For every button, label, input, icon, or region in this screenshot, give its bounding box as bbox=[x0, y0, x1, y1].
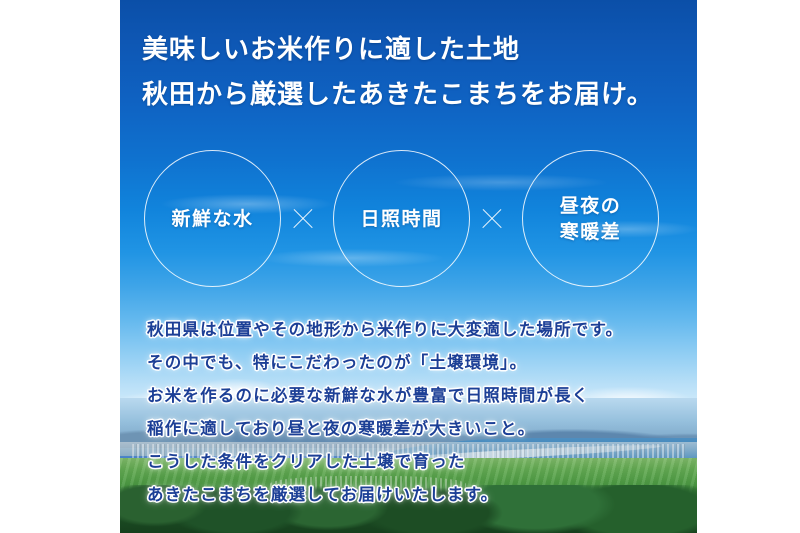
multiply-icon-2 bbox=[479, 206, 505, 232]
body-line: お米を作るのに必要な新鮮な水が豊富で日照時間が長く bbox=[147, 379, 677, 412]
headline-line-2: 秋田から厳選したあきたこまちをお届け。 bbox=[142, 73, 682, 118]
banner-headline: 美味しいお米作りに適した土地 秋田から厳選したあきたこまちをお届け。 bbox=[142, 28, 682, 118]
factor-label-day-night-temperature-range: 昼夜の 寒暖差 bbox=[560, 193, 622, 245]
factor-label-fresh-water: 新鮮な水 bbox=[171, 206, 253, 232]
body-line: 稲作に適しており昼と夜の寒暖差が大きいこと。 bbox=[147, 412, 677, 445]
body-line: こうした条件をクリアした土壌で育った bbox=[147, 445, 677, 478]
page-root: 美味しいお米作りに適した土地 秋田から厳選したあきたこまちをお届け。 新鮮な水 … bbox=[0, 0, 800, 533]
headline-line-1: 美味しいお米作りに適した土地 bbox=[142, 28, 682, 73]
multiply-icon-1 bbox=[290, 206, 316, 232]
factor-circles-row: 新鮮な水 日照時間 昼夜の 寒暖差 bbox=[120, 150, 697, 290]
factor-circle-sunlight-hours: 日照時間 bbox=[333, 150, 470, 287]
rice-promo-banner: 美味しいお米作りに適した土地 秋田から厳選したあきたこまちをお届け。 新鮮な水 … bbox=[120, 0, 697, 533]
body-line: あきたこまちを厳選してお届けいたします。 bbox=[147, 478, 677, 511]
factor-circle-fresh-water: 新鮮な水 bbox=[144, 150, 281, 287]
factor-circle-day-night-temperature-range: 昼夜の 寒暖差 bbox=[522, 150, 659, 287]
factor-label-sunlight-hours: 日照時間 bbox=[360, 206, 442, 232]
body-line: その中でも、特にこだわったのが「土壌環境」。 bbox=[147, 346, 677, 379]
banner-body-copy: 秋田県は位置やその地形から米作りに大変適した場所です。 その中でも、特にこだわっ… bbox=[147, 313, 677, 511]
body-line: 秋田県は位置やその地形から米作りに大変適した場所です。 bbox=[147, 313, 677, 346]
